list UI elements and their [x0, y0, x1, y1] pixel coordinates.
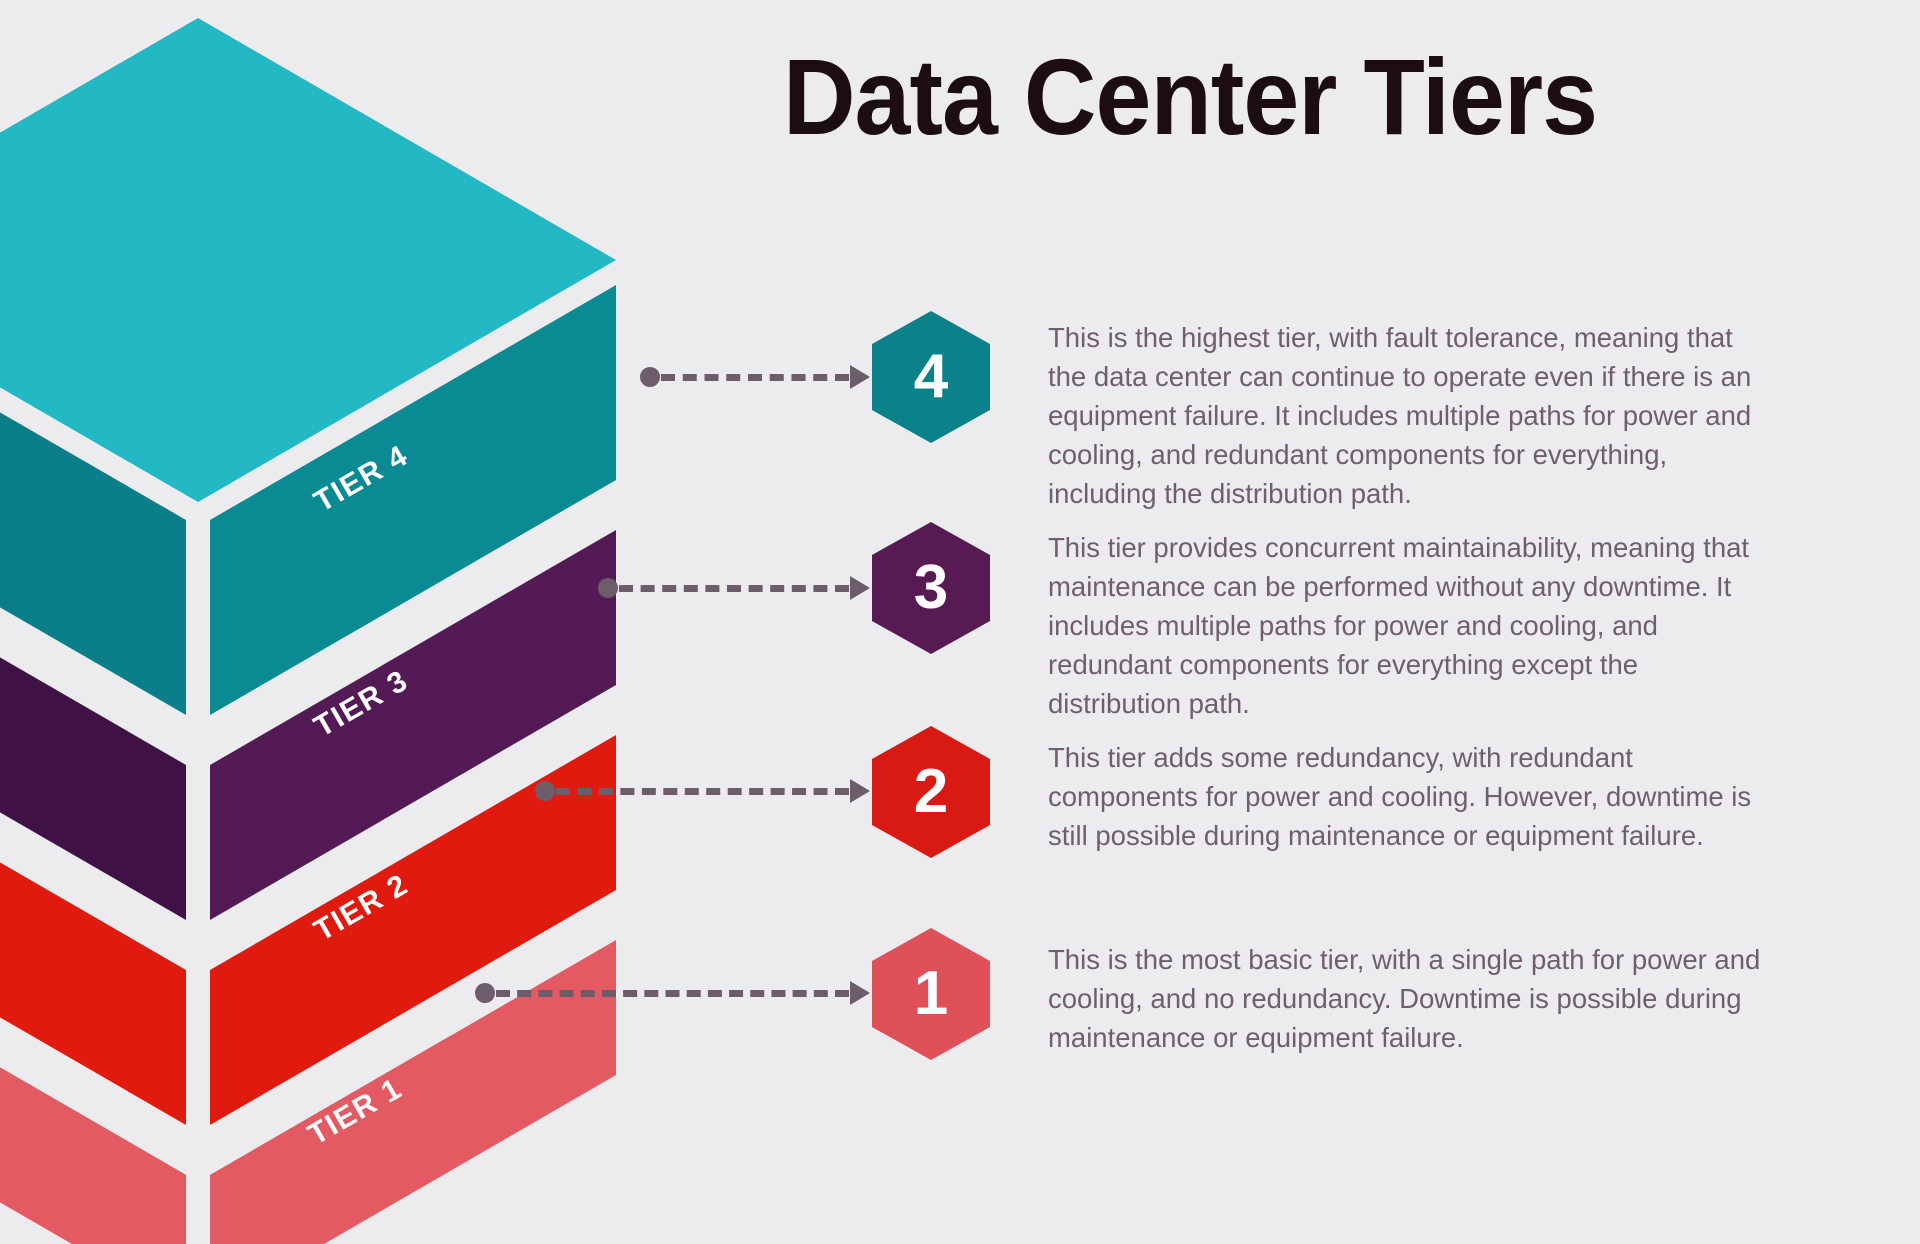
connector-tier-1	[475, 980, 870, 1006]
tier-3-description: This tier provides concurrent maintainab…	[1048, 528, 1778, 723]
connector-dot-tier-3	[598, 578, 618, 598]
tier-1-description: This is the most basic tier, with a sing…	[1048, 940, 1778, 1057]
tier-1-number: 1	[914, 963, 948, 1025]
connector-dash-tier-4	[661, 374, 849, 381]
isometric-tier-stack: TIER 1 TIER 2 TIER 3	[0, 0, 630, 1244]
iso-stack-svg: TIER 1 TIER 2 TIER 3	[0, 0, 630, 1244]
infographic-canvas: Data Center Tiers TIER 1 TIER 2	[0, 0, 1920, 1244]
tier-2-badge[interactable]: 2	[872, 726, 990, 858]
connector-dash-tier-3	[619, 585, 849, 592]
connector-arrow-tier-2	[850, 779, 870, 803]
tier-2-description: This tier adds some redundancy, with red…	[1048, 738, 1778, 855]
tier-1-badge[interactable]: 1	[872, 928, 990, 1060]
connector-arrow-tier-3	[850, 576, 870, 600]
tier-2-number: 2	[914, 761, 948, 823]
page-title: Data Center Tiers	[688, 40, 1692, 153]
connector-arrow-tier-4	[850, 365, 870, 389]
tier-4-badge[interactable]: 4	[872, 311, 990, 443]
connector-dash-tier-2	[556, 788, 849, 795]
connector-dot-tier-4	[640, 367, 660, 387]
tier-3-number: 3	[914, 557, 948, 619]
tier-4-description: This is the highest tier, with fault tol…	[1048, 318, 1778, 513]
connector-dot-tier-1	[475, 983, 495, 1003]
connector-tier-3	[598, 575, 870, 601]
connector-arrow-tier-1	[850, 981, 870, 1005]
connector-tier-2	[535, 778, 870, 804]
tier-4-number: 4	[914, 346, 948, 408]
tier-3-badge[interactable]: 3	[872, 522, 990, 654]
connector-dot-tier-2	[535, 781, 555, 801]
connector-tier-4	[640, 364, 870, 390]
connector-dash-tier-1	[496, 990, 849, 997]
